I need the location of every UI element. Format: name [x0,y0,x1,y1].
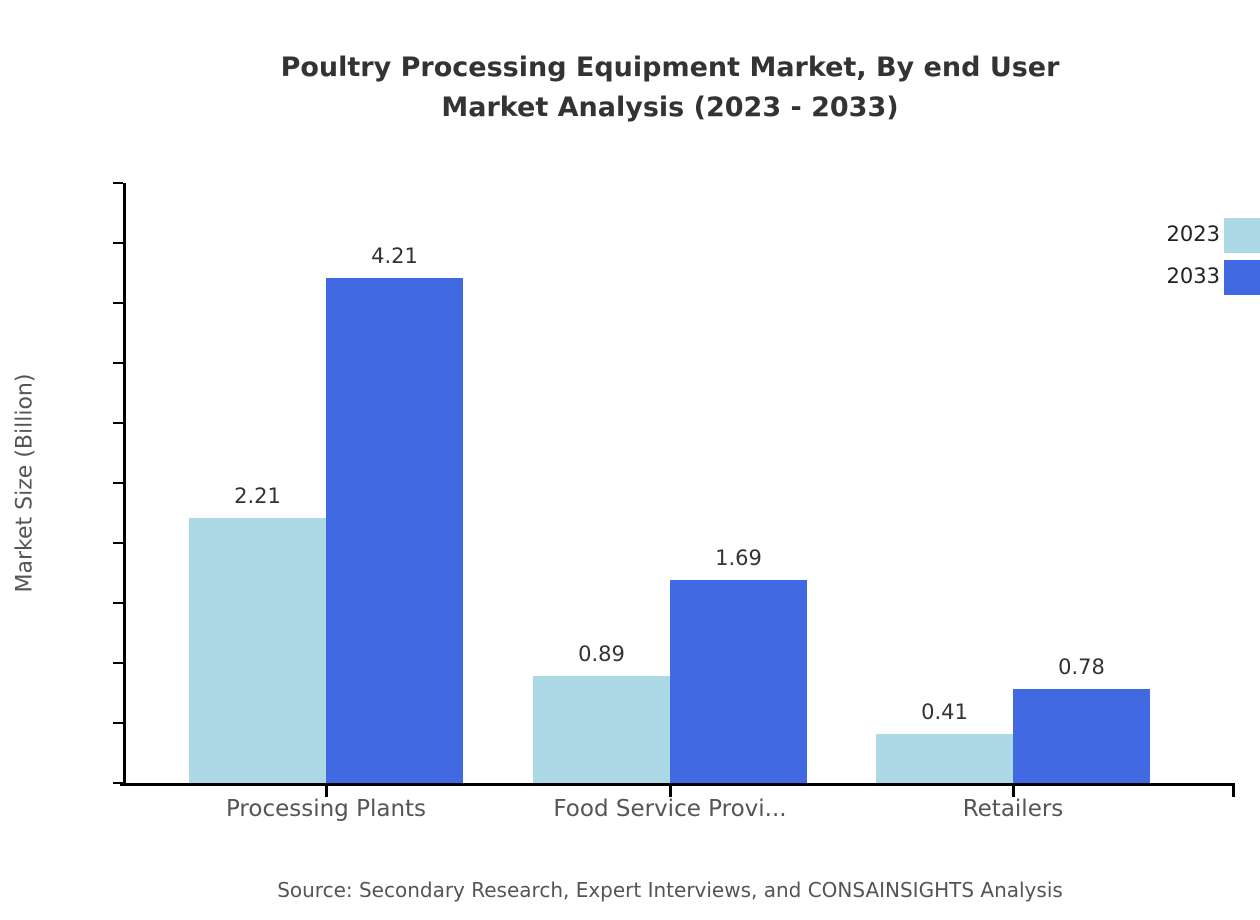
y-axis-line [123,183,126,784]
x-axis-line [120,783,1235,786]
y-tick-mark [113,782,123,784]
plot-area: Market Size (Billion) 0.00.51.01.52.02.5… [123,183,1235,783]
bar-2033-1[interactable] [670,580,807,783]
y-tick-mark [113,362,123,364]
source-note: Source: Secondary Research, Expert Inter… [0,878,1260,902]
bar-value-label: 4.21 [371,244,418,268]
y-tick-mark [113,662,123,664]
y-tick-mark [113,422,123,424]
chart-title: Poultry Processing Equipment Market, By … [0,48,1260,128]
legend-label-2023: 2023 [1110,222,1220,246]
bar-value-label: 1.69 [715,546,762,570]
bar-2023-0[interactable] [189,518,326,783]
chart-title-line-1: Poultry Processing Equipment Market, By … [0,48,1260,88]
legend-item-2033[interactable]: 2033 [1110,260,1260,296]
y-tick-mark [113,602,123,604]
legend-item-2023[interactable]: 2023 [1110,218,1260,254]
x-tick-mark-end [1232,786,1235,797]
legend-swatch-2023 [1224,218,1260,253]
bar-value-label: 0.78 [1058,655,1105,679]
y-tick-mark [113,242,123,244]
x-tick-label-0: Processing Plants [226,796,426,822]
bar-2033-2[interactable] [1013,689,1150,783]
bar-value-label: 0.41 [921,700,968,724]
bar-value-label: 0.89 [578,642,625,666]
y-tick-mark [113,482,123,484]
bar-value-label: 2.21 [234,484,281,508]
y-tick-mark [113,722,123,724]
chart-figure: Poultry Processing Equipment Market, By … [0,0,1260,920]
y-axis-title: Market Size (Billion) [13,374,38,593]
legend-label-2033: 2033 [1110,264,1220,288]
bar-2023-2[interactable] [876,734,1013,783]
chart-title-line-2: Market Analysis (2023 - 2033) [0,88,1260,128]
chart-legend: 2023 2033 [1110,218,1260,318]
x-tick-label-1: Food Service Provi... [553,796,786,822]
bar-2023-1[interactable] [533,676,670,783]
x-tick-label-2: Retailers [963,796,1064,822]
y-tick-mark [113,182,123,184]
y-tick-mark [113,302,123,304]
bar-2033-0[interactable] [326,278,463,783]
legend-swatch-2033 [1224,260,1260,295]
y-tick-mark [113,542,123,544]
